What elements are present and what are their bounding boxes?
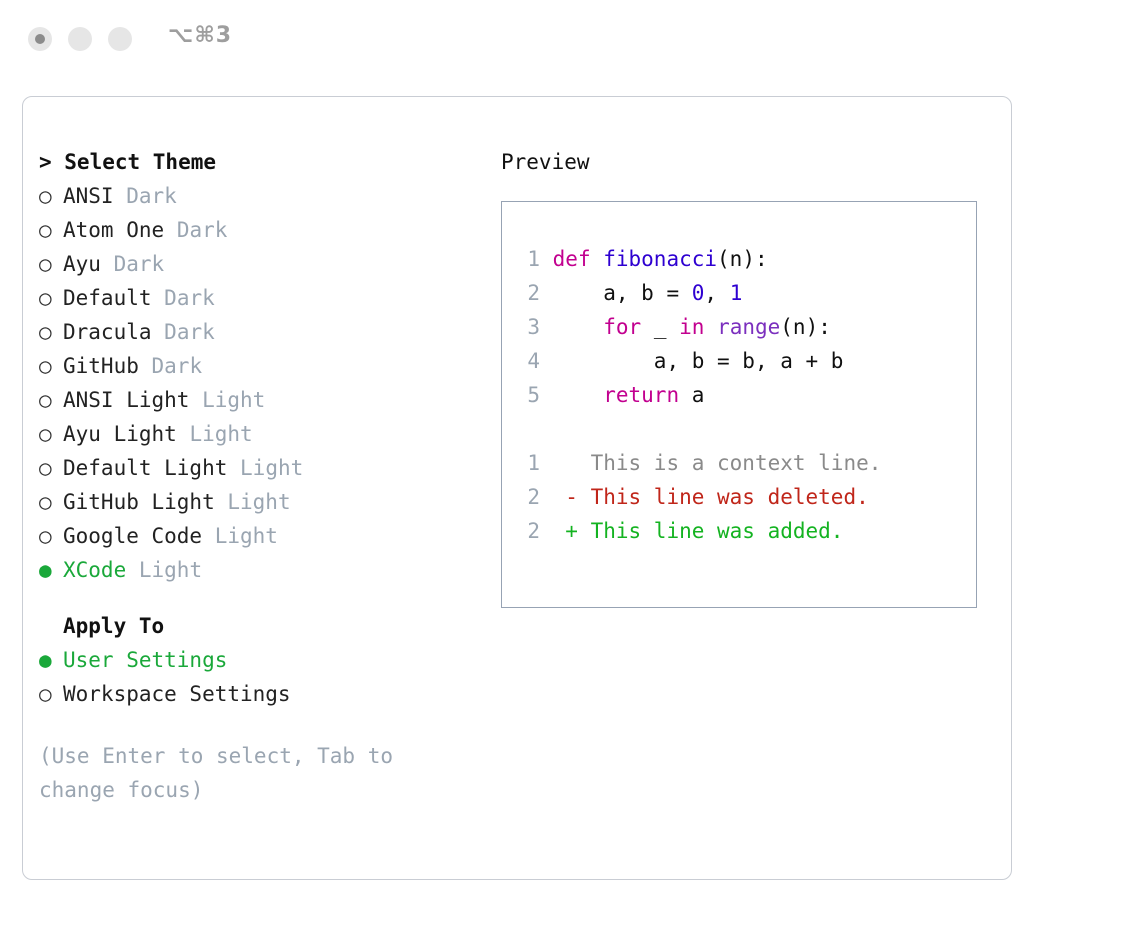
theme-name: Google Code — [63, 524, 202, 548]
code-token: + This line was added. — [553, 519, 844, 543]
title-bar: ⌥⌘3 — [0, 0, 1140, 76]
theme-list[interactable]: ○ANSI Dark○Atom One Dark○Ayu Dark○Defaul… — [39, 179, 479, 587]
code-blank-line — [514, 412, 881, 446]
radio-unselected-icon[interactable]: ○ — [39, 519, 63, 553]
code-token: for — [603, 315, 641, 339]
code-token: range — [717, 315, 780, 339]
theme-gap — [202, 524, 215, 548]
theme-list-item[interactable]: ○GitHub Dark — [39, 349, 479, 383]
theme-selection-panel: > Select Theme ○ANSI Dark○Atom One Dark○… — [39, 145, 479, 807]
code-token: , — [704, 281, 729, 305]
line-number-gap — [540, 281, 553, 305]
window-dot-minimize[interactable] — [68, 27, 92, 51]
apply-to-option[interactable]: ○Workspace Settings — [39, 677, 479, 711]
theme-name: Ayu — [63, 252, 101, 276]
radio-unselected-icon[interactable]: ○ — [39, 213, 63, 247]
line-number-gap — [540, 247, 553, 271]
radio-unselected-icon[interactable]: ○ — [39, 281, 63, 315]
line-number: 5 — [514, 378, 540, 412]
radio-unselected-icon[interactable]: ○ — [39, 315, 63, 349]
theme-list-item[interactable]: ○ANSI Light Light — [39, 383, 479, 417]
code-token: in — [679, 315, 704, 339]
line-number-gap — [540, 383, 553, 407]
code-token: _ — [641, 315, 679, 339]
radio-unselected-icon[interactable]: ○ — [39, 179, 63, 213]
keyboard-hint: (Use Enter to select, Tab to change focu… — [39, 739, 459, 807]
theme-name: ANSI Light — [63, 388, 189, 412]
line-number: 3 — [514, 310, 540, 344]
theme-name: GitHub Light — [63, 490, 215, 514]
radio-selected-icon[interactable]: ● — [39, 643, 63, 677]
apply-to-label: Workspace Settings — [63, 682, 291, 706]
theme-gap — [189, 388, 202, 412]
code-line: 1 This is a context line. — [514, 446, 881, 480]
code-token: a, b = — [553, 281, 692, 305]
line-number-gap — [540, 485, 553, 509]
theme-gap — [215, 490, 228, 514]
line-number: 4 — [514, 344, 540, 378]
code-line: 5 return a — [514, 378, 881, 412]
dialog-card: > Select Theme ○ANSI Dark○Atom One Dark○… — [22, 96, 1012, 880]
theme-list-item[interactable]: ○Default Dark — [39, 281, 479, 315]
theme-variant: Light — [215, 524, 278, 548]
code-token: 0 — [692, 281, 705, 305]
list-spacer — [39, 587, 479, 609]
keyboard-shortcut-label: ⌥⌘3 — [168, 23, 232, 48]
line-number: 2 — [514, 276, 540, 310]
code-token: a, b = b, a + b — [553, 349, 844, 373]
code-token: a — [679, 383, 704, 407]
radio-unselected-icon[interactable]: ○ — [39, 485, 63, 519]
theme-list-item[interactable]: ○Ayu Light Light — [39, 417, 479, 451]
app-window: ⌥⌘3 > Select Theme ○ANSI Dark○Atom One D… — [0, 0, 1140, 934]
line-number-gap — [540, 349, 553, 373]
theme-list-item[interactable]: ○Atom One Dark — [39, 213, 479, 247]
code-token — [704, 315, 717, 339]
code-token: (n): — [780, 315, 831, 339]
theme-gap — [177, 422, 190, 446]
window-dot-close[interactable] — [28, 27, 52, 51]
theme-gap — [152, 286, 165, 310]
theme-variant: Dark — [114, 252, 165, 276]
apply-to-label: User Settings — [63, 648, 227, 672]
preview-box: 1 def fibonacci(n):2 a, b = 0, 13 for _ … — [501, 201, 977, 608]
code-token: def — [553, 247, 604, 271]
code-line: 2 a, b = 0, 1 — [514, 276, 881, 310]
line-number-gap — [540, 451, 553, 475]
theme-gap — [164, 218, 177, 242]
theme-variant: Dark — [126, 184, 177, 208]
theme-variant: Light — [202, 388, 265, 412]
theme-name: GitHub — [63, 354, 139, 378]
theme-variant: Light — [189, 422, 252, 446]
code-token: 1 — [730, 281, 743, 305]
code-line: 1 def fibonacci(n): — [514, 242, 881, 276]
preview-title: Preview — [501, 145, 991, 179]
radio-unselected-icon[interactable]: ○ — [39, 417, 63, 451]
radio-unselected-icon[interactable]: ○ — [39, 383, 63, 417]
code-token: return — [603, 383, 679, 407]
line-number-gap — [540, 519, 553, 543]
code-token: This is a context line. — [553, 451, 882, 475]
theme-name: Default — [63, 286, 152, 310]
theme-variant: Dark — [164, 320, 215, 344]
theme-name: Ayu Light — [63, 422, 177, 446]
theme-variant: Light — [227, 490, 290, 514]
theme-variant: Dark — [177, 218, 228, 242]
theme-list-item[interactable]: ○Dracula Dark — [39, 315, 479, 349]
line-number: 2 — [514, 480, 540, 514]
radio-unselected-icon[interactable]: ○ — [39, 677, 63, 711]
code-line: 3 for _ in range(n): — [514, 310, 881, 344]
theme-name: Dracula — [63, 320, 152, 344]
window-dot-maximize[interactable] — [108, 27, 132, 51]
theme-name: XCode — [63, 558, 126, 582]
code-token: (n): — [717, 247, 768, 271]
window-dot-inner — [35, 34, 45, 44]
preview-panel: Preview 1 def fibonacci(n):2 a, b = 0, 1… — [501, 145, 991, 608]
code-token — [553, 315, 604, 339]
code-line: 4 a, b = b, a + b — [514, 344, 881, 378]
theme-name: ANSI — [63, 184, 114, 208]
theme-name: Atom One — [63, 218, 164, 242]
theme-gap — [139, 354, 152, 378]
theme-list-item[interactable]: ○GitHub Light Light — [39, 485, 479, 519]
theme-list-item[interactable]: ○ANSI Dark — [39, 179, 479, 213]
radio-selected-icon[interactable]: ● — [39, 553, 63, 587]
theme-gap — [126, 558, 139, 582]
theme-variant: Light — [240, 456, 303, 480]
theme-variant: Light — [139, 558, 202, 582]
theme-variant: Dark — [152, 354, 203, 378]
code-preview: 1 def fibonacci(n):2 a, b = 0, 13 for _ … — [514, 242, 881, 548]
theme-list-item[interactable]: ○Google Code Light — [39, 519, 479, 553]
code-token: fibonacci — [603, 247, 717, 271]
theme-name: Default Light — [63, 456, 227, 480]
radio-unselected-icon[interactable]: ○ — [39, 451, 63, 485]
code-token: - This line was deleted. — [553, 485, 869, 509]
theme-list-item[interactable]: ○Default Light Light — [39, 451, 479, 485]
apply-to-option[interactable]: ●User Settings — [39, 643, 479, 677]
line-number: 1 — [514, 446, 540, 480]
code-line: 2 + This line was added. — [514, 514, 881, 548]
radio-unselected-icon[interactable]: ○ — [39, 349, 63, 383]
theme-gap — [114, 184, 127, 208]
theme-gap — [101, 252, 114, 276]
radio-unselected-icon[interactable]: ○ — [39, 247, 63, 281]
theme-gap — [152, 320, 165, 344]
line-number-gap — [540, 315, 553, 339]
theme-list-item[interactable]: ○Ayu Dark — [39, 247, 479, 281]
code-line: 2 - This line was deleted. — [514, 480, 881, 514]
theme-list-item[interactable]: ●XCode Light — [39, 553, 479, 587]
line-number: 1 — [514, 242, 540, 276]
line-number: 2 — [514, 514, 540, 548]
theme-gap — [227, 456, 240, 480]
apply-to-heading: Apply To — [39, 609, 479, 643]
theme-variant: Dark — [164, 286, 215, 310]
hint-spacer — [39, 711, 479, 733]
apply-to-list[interactable]: ●User Settings○Workspace Settings — [39, 643, 479, 711]
select-theme-heading: > Select Theme — [39, 145, 479, 179]
code-token — [553, 383, 604, 407]
